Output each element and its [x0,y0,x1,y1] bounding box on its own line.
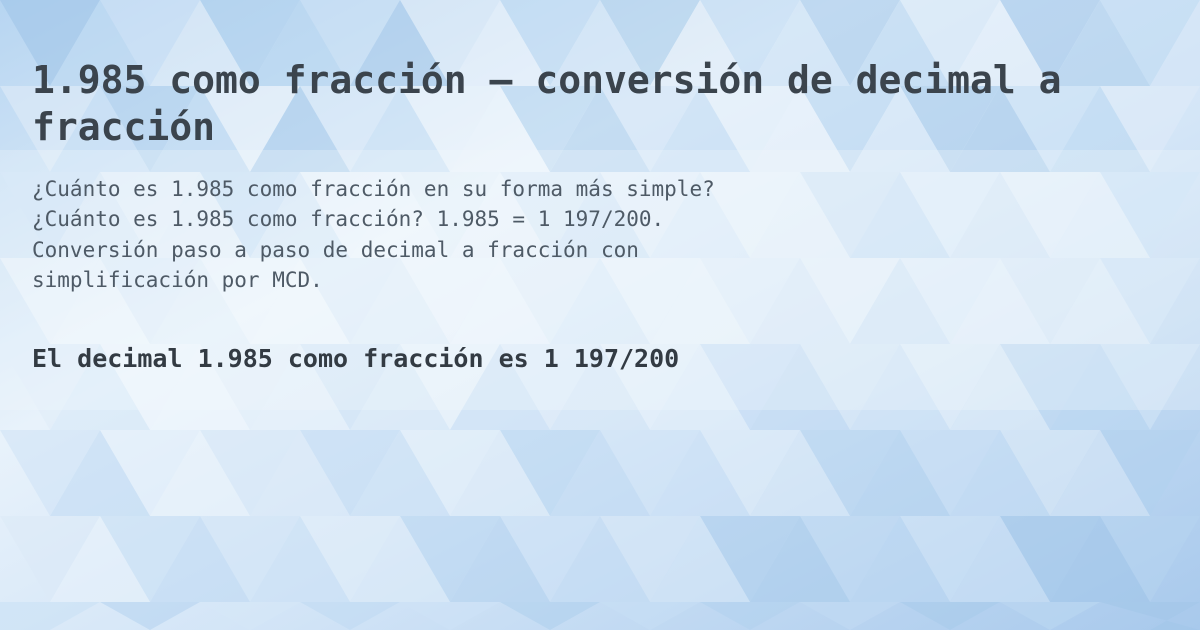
page-description: ¿Cuánto es 1.985 como fracción en su for… [32,174,1092,296]
description-line-1: ¿Cuánto es 1.985 como fracción en su for… [32,174,1092,204]
page-title: 1.985 como fracción – conversión de deci… [32,57,1122,150]
answer-statement: El decimal 1.985 como fracción es 1 197/… [32,344,679,373]
description-line-3: Conversión paso a paso de decimal a frac… [32,235,1092,265]
page-canvas: 1.985 como fracción – conversión de deci… [0,0,1200,630]
description-line-4: simplificación por MCD. [32,265,1092,295]
description-line-2: ¿Cuánto es 1.985 como fracción? 1.985 = … [32,204,1092,234]
